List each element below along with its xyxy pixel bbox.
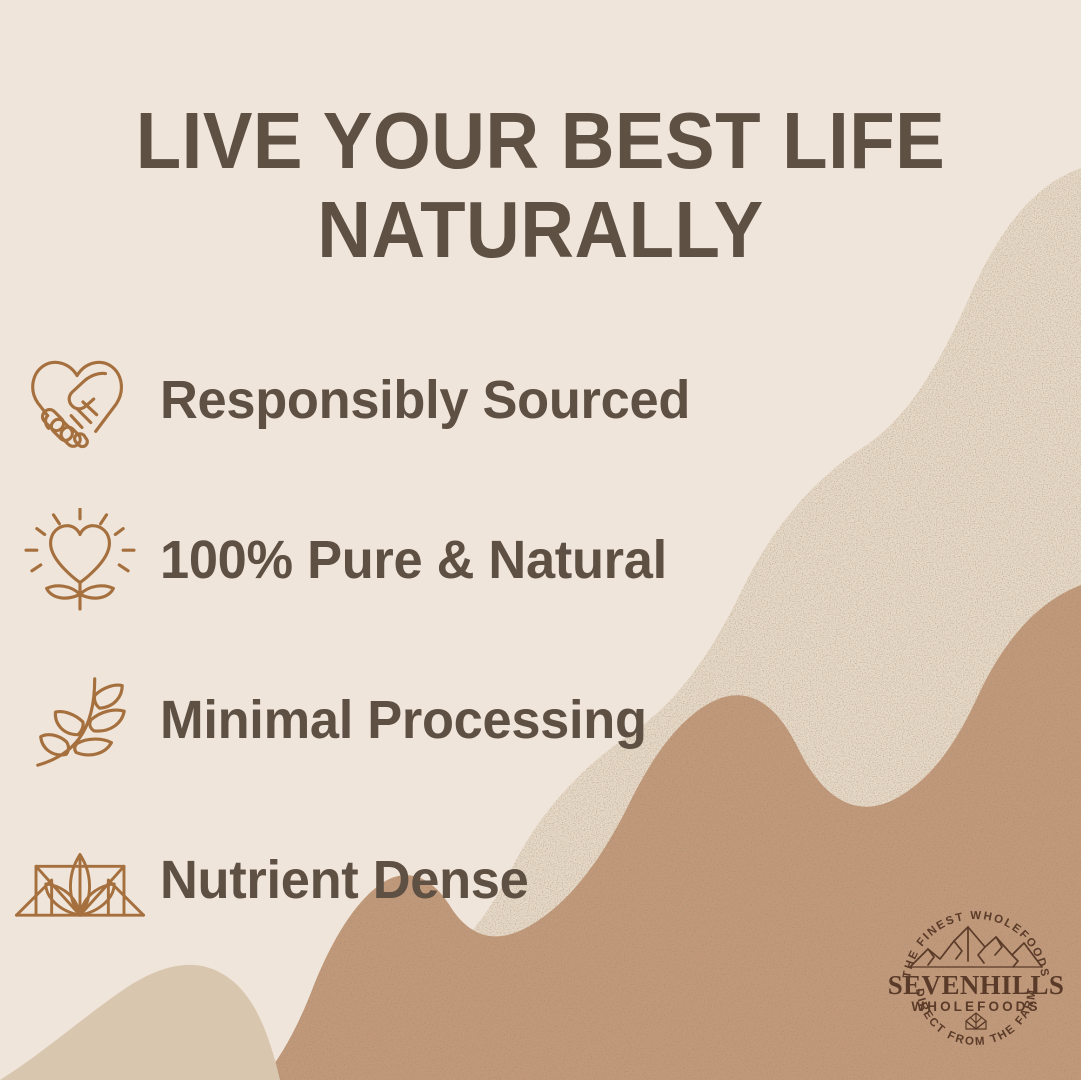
wave-layer-foreground-hill: [0, 965, 280, 1080]
headline-line-2: NATURALLY: [317, 185, 763, 274]
heart-flower-sun-icon: [0, 500, 160, 620]
page-title: LIVE YOUR BEST LIFE NATURALLY: [89, 96, 992, 275]
feature-label: Nutrient Dense: [160, 849, 528, 911]
handshake-heart-icon: [0, 340, 160, 460]
leaf-branch-icon: [0, 660, 160, 780]
poster-canvas: LIVE YOUR BEST LIFE NATURALLY: [0, 0, 1081, 1080]
feature-label: Responsibly Sourced: [160, 369, 690, 431]
feature-list: Responsibly Sourced: [0, 320, 1081, 960]
leaf-ornament-icon: [966, 1013, 986, 1029]
brand-logo[interactable]: THE FINEST WHOLEFOODS SEVENHILLS WHOLEFO…: [888, 893, 1064, 1069]
feature-row-responsibly-sourced: Responsibly Sourced: [0, 320, 1081, 480]
lotus-mandala-icon: [0, 820, 160, 940]
feature-label: Minimal Processing: [160, 689, 647, 751]
headline-line-1: LIVE YOUR BEST LIFE: [136, 96, 945, 185]
feature-label: 100% Pure & Natural: [160, 529, 667, 591]
feature-row-pure-natural: 100% Pure & Natural: [0, 480, 1081, 640]
feature-row-minimal-processing: Minimal Processing: [0, 640, 1081, 800]
logo-top-arc-text: THE FINEST WHOLEFOODS: [901, 910, 1050, 979]
